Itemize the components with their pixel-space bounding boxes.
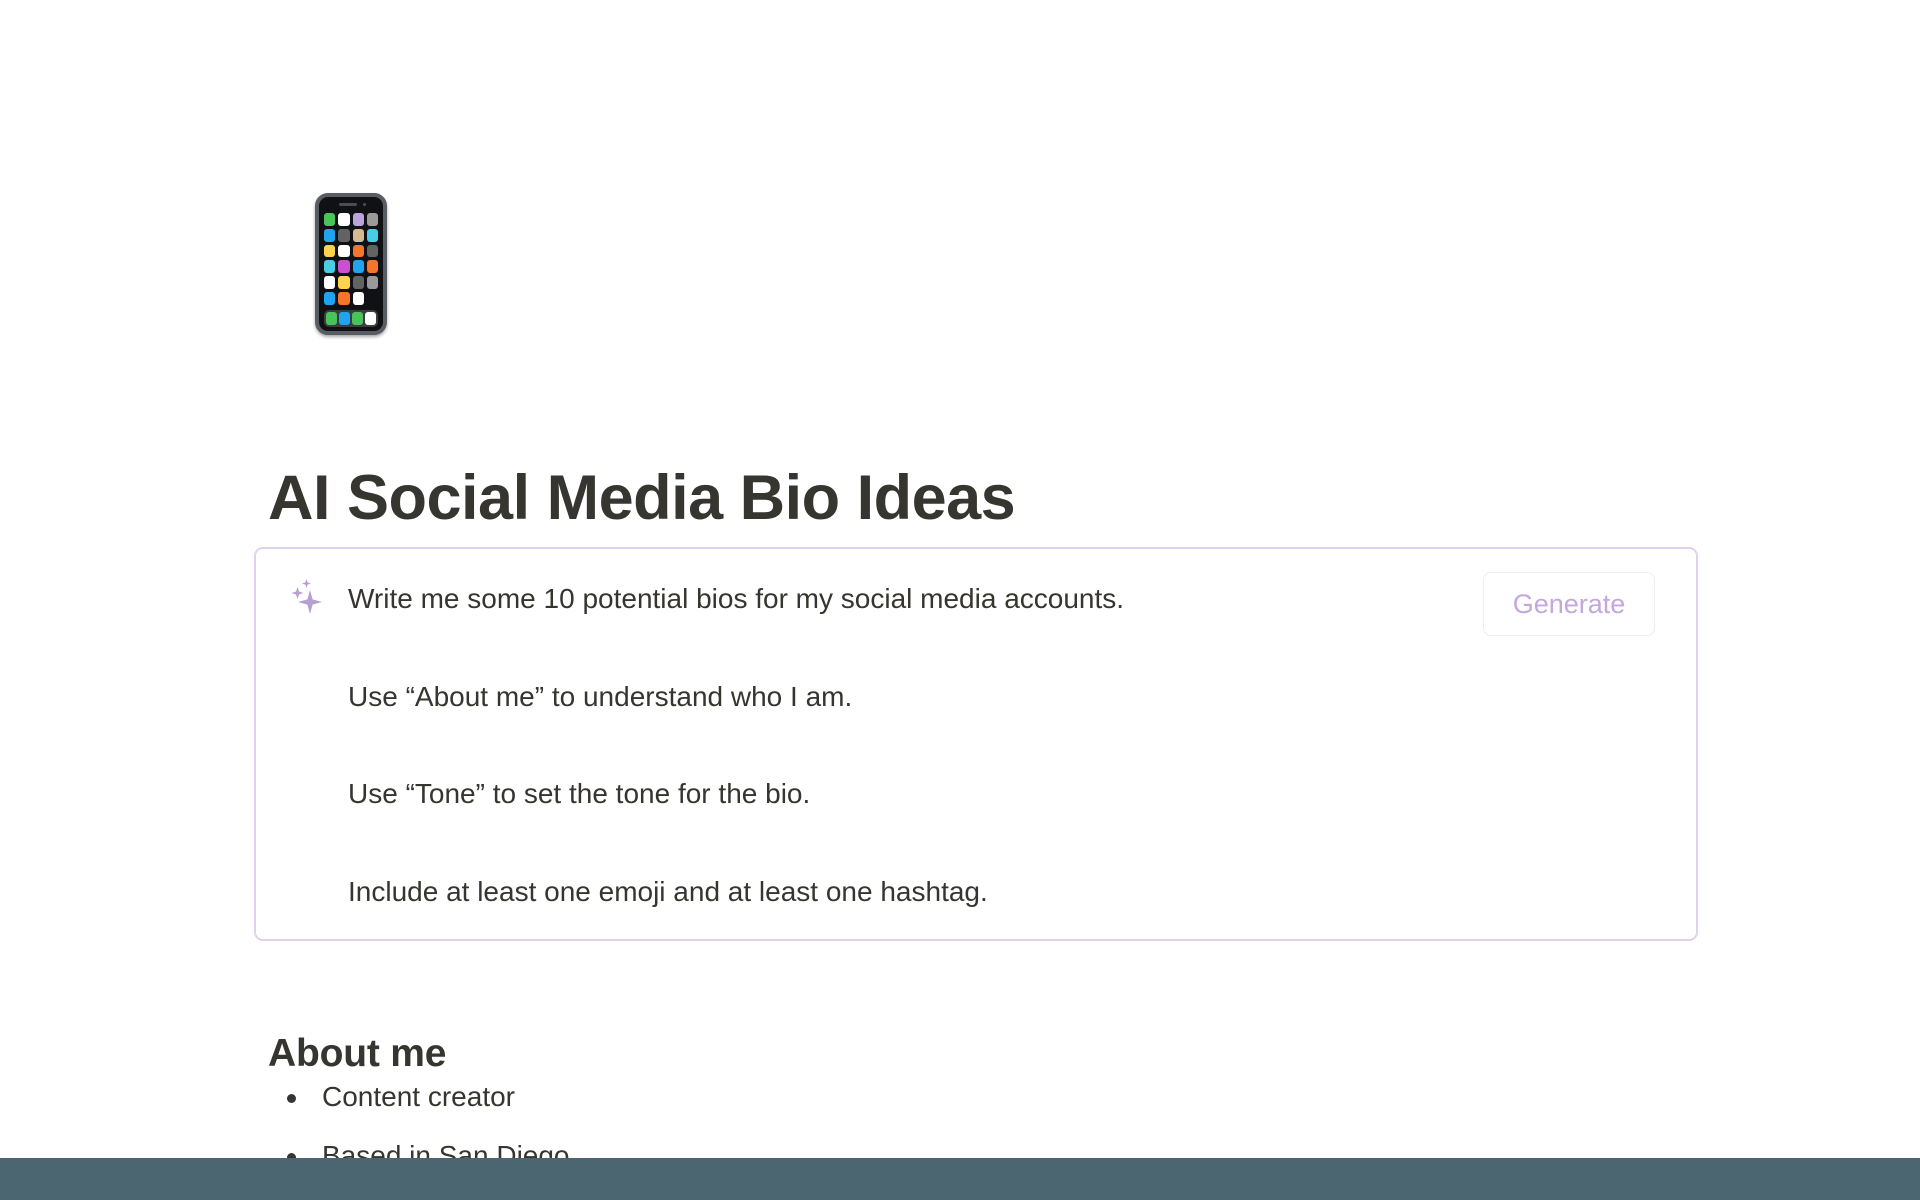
phone-app-tile [324, 260, 335, 273]
phone-camera-dot [363, 203, 366, 206]
phone-app-tile [338, 260, 349, 273]
phone-app-tile [367, 260, 378, 273]
prompt-line-instruction: Write me some 10 potential bios for my s… [348, 579, 1124, 620]
bullet-dot-icon [287, 1094, 296, 1103]
phone-app-tile [353, 213, 364, 226]
sparkle-icon [286, 576, 328, 618]
phone-app-tile [367, 292, 378, 305]
phone-app-tile [338, 292, 349, 305]
phone-app-tile [353, 260, 364, 273]
list-item-label: Content creator [322, 1081, 515, 1112]
phone-app-tile [367, 245, 378, 258]
phone-dock-tile [326, 312, 337, 325]
phone-app-tile [353, 245, 364, 258]
phone-app-tile [367, 213, 378, 226]
phone-app-tile [324, 292, 335, 305]
prompt-line-tone: Use “Tone” to set the tone for the bio. [348, 774, 810, 815]
prompt-line-emoji-hashtag: Include at least one emoji and at least … [348, 872, 988, 913]
phone-app-tile [353, 229, 364, 242]
phone-app-tile [353, 292, 364, 305]
phone-app-tile [353, 276, 364, 289]
phone-app-tile [324, 276, 335, 289]
phone-app-tile [367, 276, 378, 289]
page-root: AI Social Media Bio Ideas Write me some … [0, 0, 1920, 1200]
phone-app-tile [324, 245, 335, 258]
phone-body [315, 193, 387, 335]
about-me-heading: About me [268, 1032, 446, 1076]
bottom-status-bar [0, 1158, 1920, 1200]
phone-app-tile [338, 213, 349, 226]
prompt-line-about-me: Use “About me” to understand who I am. [348, 677, 852, 718]
phone-dock-tile [352, 312, 363, 325]
phone-app-tile [324, 213, 335, 226]
generate-button[interactable]: Generate [1483, 572, 1655, 636]
phone-dock-tile [339, 312, 350, 325]
phone-app-tile [338, 229, 349, 242]
phone-app-tile [324, 229, 335, 242]
ai-prompt-card[interactable]: Write me some 10 potential bios for my s… [254, 547, 1698, 941]
page-title: AI Social Media Bio Ideas [268, 462, 1015, 534]
mobile-phone-icon[interactable] [305, 185, 401, 345]
list-item[interactable]: Content creator [268, 1077, 570, 1136]
phone-dock-tile [365, 312, 376, 325]
phone-dock [324, 310, 378, 327]
phone-speaker-notch [339, 203, 357, 206]
phone-app-tile [338, 245, 349, 258]
phone-screen-grid [324, 213, 378, 305]
phone-app-tile [367, 229, 378, 242]
phone-app-tile [338, 276, 349, 289]
